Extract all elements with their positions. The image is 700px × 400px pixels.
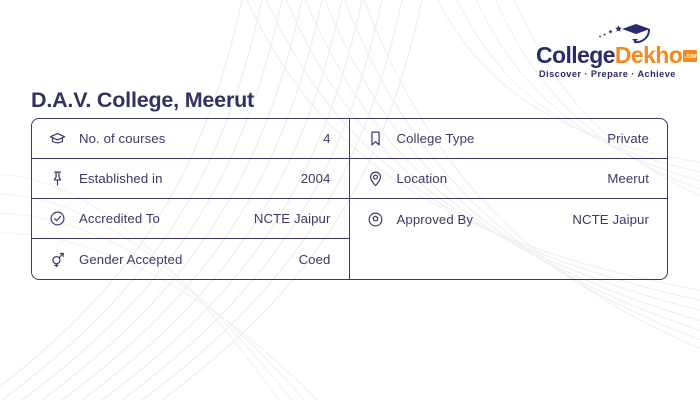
table-row: Location Meerut — [350, 159, 668, 199]
table-row-empty — [350, 239, 668, 279]
table-row: No. of courses 4 — [32, 119, 349, 159]
row-label: Location — [397, 171, 608, 186]
table-row: Established in 2004 — [32, 159, 349, 199]
info-table-right-column: College Type Private Location Meerut — [350, 119, 668, 279]
logo-text-college: College — [536, 42, 615, 68]
row-value: NCTE Jaipur — [572, 212, 649, 227]
gender-icon — [49, 249, 79, 269]
logo-tagline: Discover · Prepare · Achieve — [539, 69, 676, 79]
table-row: Gender Accepted Coed — [32, 239, 349, 279]
table-row: Approved By NCTE Jaipur — [350, 199, 668, 239]
table-row: College Type Private — [350, 119, 668, 159]
logo-text-dekho: Dekho — [615, 42, 682, 68]
row-label: No. of courses — [79, 131, 323, 146]
page-root: CollegeDekho.com Discover · Prepare · Ac… — [0, 0, 700, 400]
pin-icon — [49, 169, 79, 189]
row-label: Gender Accepted — [79, 252, 299, 267]
row-value: Coed — [299, 252, 331, 267]
row-label: Established in — [79, 171, 301, 186]
collegedekho-logo[interactable]: CollegeDekho.com Discover · Prepare · Ac… — [536, 22, 682, 82]
bookmark-icon — [367, 129, 397, 149]
page-title: D.A.V. College, Meerut — [31, 88, 254, 113]
map-pin-icon — [367, 169, 397, 189]
row-label: College Type — [397, 131, 608, 146]
row-value: NCTE Jaipur — [254, 211, 331, 226]
check-circle-icon — [49, 209, 79, 229]
logo-dotcom-badge: .com — [683, 50, 697, 62]
college-info-table: No. of courses 4 Established in 2004 — [31, 118, 668, 280]
logo-wordmark: CollegeDekho.com — [536, 42, 697, 68]
row-value: 2004 — [301, 171, 331, 186]
row-value: Meerut — [607, 171, 649, 186]
row-label: Approved By — [397, 212, 573, 227]
graduation-cap-icon — [49, 129, 79, 149]
info-table-left-column: No. of courses 4 Established in 2004 — [32, 119, 350, 279]
row-value: 4 — [323, 131, 330, 146]
row-value: Private — [607, 131, 649, 146]
row-label: Accredited To — [79, 211, 254, 226]
table-row: Accredited To NCTE Jaipur — [32, 199, 349, 239]
badge-star-icon — [367, 209, 397, 229]
